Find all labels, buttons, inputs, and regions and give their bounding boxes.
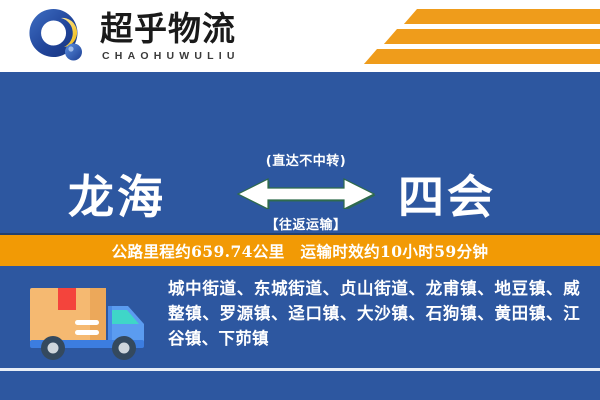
delivery-truck-icon [28,280,156,366]
brand-name-cn: 超乎物流 [100,12,240,47]
brand-text: 超乎物流 CHAOHUWULIU [100,12,240,62]
direct-note: (直达不中转) [236,150,376,169]
stripe-top [404,9,600,24]
bidirectional-arrow-icon [236,175,376,209]
distance-duration-text: 公路里程约659.74公里 运输时效约10小时59分钟 [112,240,489,262]
brand-name-en: CHAOHUWULIU [102,50,240,62]
coverage-areas-text: 城中街道、东城街道、贞山街道、龙甫镇、地豆镇、威整镇、罗源镇、迳口镇、大沙镇、石… [168,276,580,351]
origin-city: 龙海 [68,161,166,227]
stripe-bottom [364,49,600,64]
coverage-panel: 城中街道、东城街道、贞山街道、龙甫镇、地豆镇、威整镇、罗源镇、迳口镇、大沙镇、石… [0,266,600,400]
header-bar: 超乎物流 CHAOHUWULIU [0,0,600,72]
route-middle: (直达不中转) 【往返运输】 [236,150,376,233]
roundtrip-note: 【往返运输】 [236,214,376,233]
logistics-route-banner: 超乎物流 CHAOHUWULIU 龙海 (直达不中转) 【往返运输】 [0,0,600,400]
ground-divider [0,368,600,371]
circular-q-logo-icon [28,7,90,67]
stripe-middle [384,29,600,44]
speed-stripes-icon [320,0,600,72]
route-panel: 龙海 (直达不中转) 【往返运输】 四会 [0,72,600,233]
destination-city: 四会 [398,161,496,227]
distance-duration-bar: 公路里程约659.74公里 运输时效约10小时59分钟 [0,233,600,268]
brand-logo[interactable]: 超乎物流 CHAOHUWULIU [28,6,240,68]
